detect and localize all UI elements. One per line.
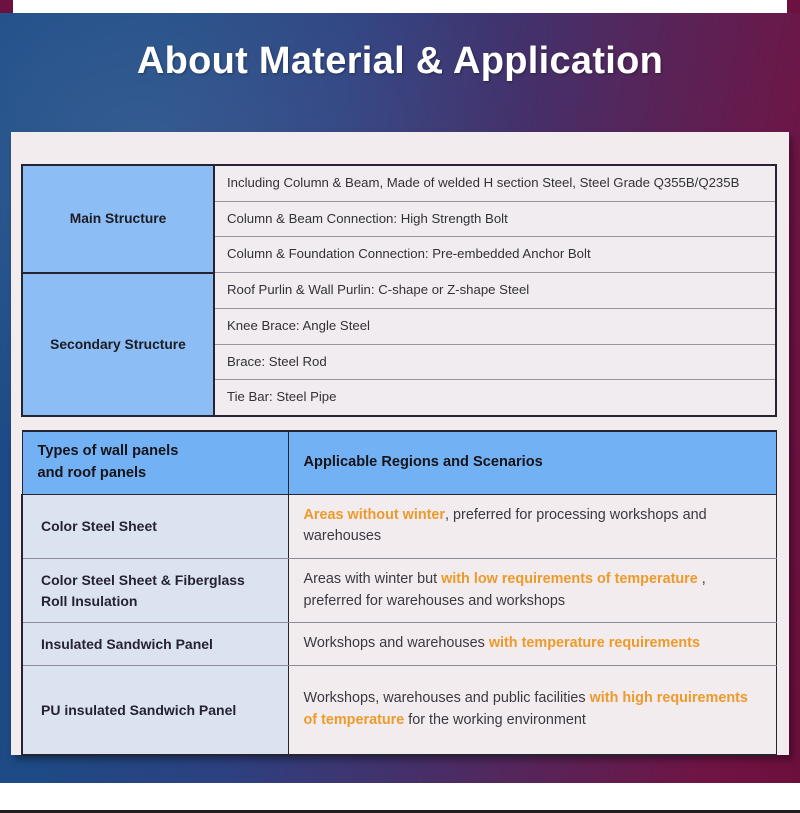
structure-item-cell: Tie Bar: Steel Pipe — [214, 380, 776, 416]
structure-item-cell: Including Column & Beam, Made of welded … — [214, 165, 776, 201]
structure-item-cell: Knee Brace: Angle Steel — [214, 308, 776, 344]
panel-desc: Workshops, warehouses and public facilit… — [288, 665, 777, 755]
panels-table-body: Types of wall panels and roof panels App… — [22, 431, 777, 755]
top-accent-strip — [0, 0, 800, 14]
panels-header-types-line2: and roof panels — [38, 465, 147, 481]
table-row: Insulated Sandwich Panel Workshops and w… — [22, 623, 777, 666]
content-panel: Main Structure Including Column & Beam, … — [11, 132, 789, 755]
page-title: About Material & Application — [137, 40, 663, 83]
panel-type-name: Color Steel Sheet — [22, 494, 288, 558]
structure-table: Main Structure Including Column & Beam, … — [21, 164, 777, 417]
panel-type-name-line1: Color Steel Sheet — [41, 518, 157, 534]
structure-category-secondary: Secondary Structure — [22, 273, 214, 416]
structure-table-body: Main Structure Including Column & Beam, … — [22, 165, 776, 416]
table-row: Secondary Structure Roof Purlin & Wall P… — [22, 273, 776, 309]
panel-type-name-line1: PU insulated Sandwich Panel — [41, 702, 236, 718]
panel-type-name: PU insulated Sandwich Panel — [22, 665, 288, 755]
plain-text: for the working environment — [404, 712, 586, 728]
bottom-white-band — [0, 783, 800, 813]
panels-table-header-row: Types of wall panels and roof panels App… — [22, 431, 777, 494]
slide-canvas: About Material & Application Main Struct… — [0, 0, 800, 813]
top-white-strip — [13, 0, 787, 13]
highlighted-text: with temperature requirements — [489, 635, 700, 651]
panel-type-name: Insulated Sandwich Panel — [22, 623, 288, 666]
highlighted-text: Areas without winter — [304, 507, 446, 523]
highlighted-text: with low requirements of temperature — [441, 571, 698, 587]
table-row: Color Steel Sheet Areas without winter, … — [22, 494, 777, 558]
table-row: PU insulated Sandwich Panel Workshops, w… — [22, 665, 777, 755]
page-title-container: About Material & Application — [0, 40, 800, 83]
panel-desc: Workshops and warehouses with temperatur… — [288, 623, 777, 666]
plain-text: Workshops, warehouses and public facilit… — [304, 690, 590, 706]
panels-table: Types of wall panels and roof panels App… — [21, 430, 777, 756]
table-row: Color Steel Sheet & Fiberglass Roll Insu… — [22, 559, 777, 623]
structure-item-cell: Brace: Steel Rod — [214, 344, 776, 380]
panel-type-name-line1: Insulated Sandwich Panel — [41, 636, 213, 652]
panel-type-name-line2: Roll Insulation — [41, 593, 137, 609]
structure-item-cell: Column & Beam Connection: High Strength … — [214, 201, 776, 237]
plain-text: Workshops and warehouses — [304, 635, 489, 651]
panel-type-name-line1: Color Steel Sheet & Fiberglass — [41, 572, 245, 588]
panel-type-name: Color Steel Sheet & Fiberglass Roll Insu… — [22, 559, 288, 623]
plain-text: Areas with winter but — [304, 571, 442, 587]
structure-item-cell: Column & Foundation Connection: Pre-embe… — [214, 237, 776, 273]
panels-header-types-line1: Types of wall panels — [38, 443, 179, 459]
structure-item-cell: Roof Purlin & Wall Purlin: C-shape or Z-… — [214, 273, 776, 309]
panel-desc: Areas without winter, preferred for proc… — [288, 494, 777, 558]
structure-category-main: Main Structure — [22, 165, 214, 273]
table-row: Main Structure Including Column & Beam, … — [22, 165, 776, 201]
panel-desc: Areas with winter but with low requireme… — [288, 559, 777, 623]
panels-header-regions: Applicable Regions and Scenarios — [288, 431, 777, 494]
panels-header-types: Types of wall panels and roof panels — [22, 431, 288, 494]
